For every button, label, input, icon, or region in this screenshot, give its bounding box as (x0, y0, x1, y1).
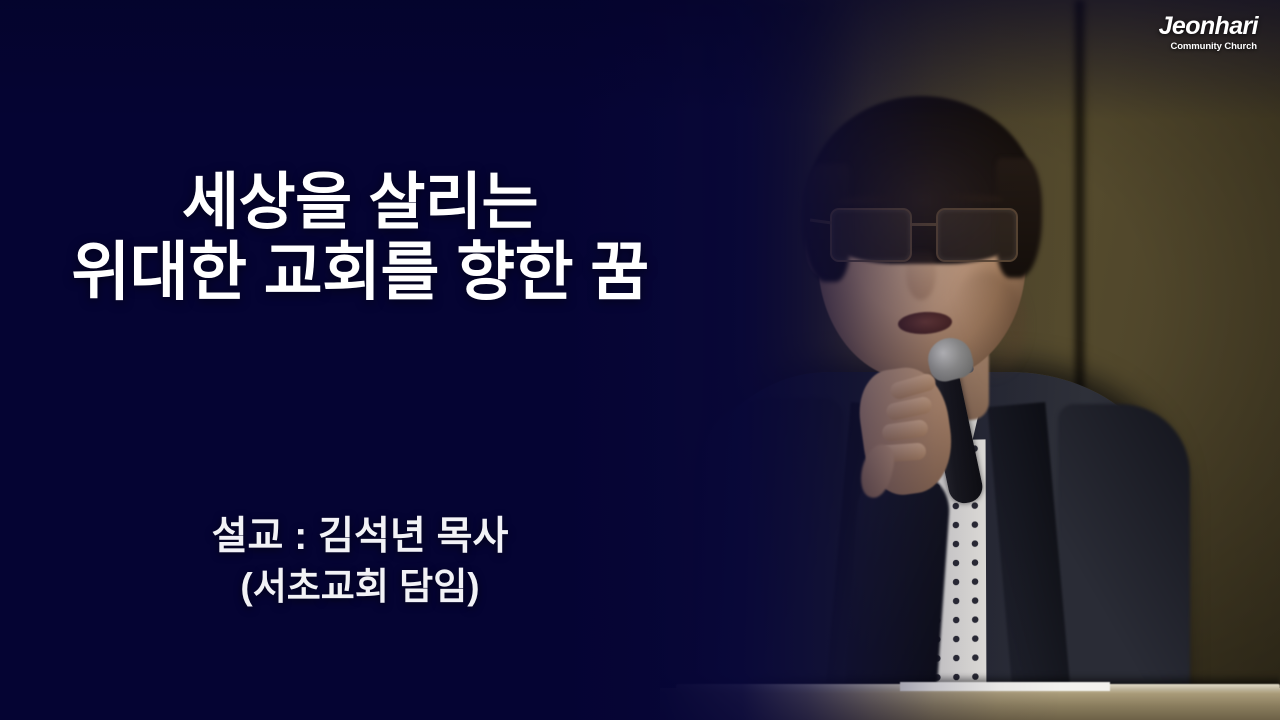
sermon-title: 세상을 살리는 위대한 교회를 향한 꿈 (0, 168, 720, 309)
sermon-title-line-2: 위대한 교회를 향한 꿈 (0, 237, 720, 309)
sermon-title-line-1: 세상을 살리는 (0, 168, 720, 237)
speaker-name-line: 설교 : 김석년 목사 (0, 512, 720, 563)
church-logo-subtitle: Community Church (1159, 42, 1257, 52)
sermon-title-slide: 세상을 살리는 위대한 교회를 향한 꿈 설교 : 김석년 목사 (서초교회 담… (0, 0, 1280, 720)
navy-gradient-overlay (0, 0, 1280, 720)
church-logo: Jeonhari Community Church (1159, 14, 1258, 52)
church-logo-wordmark: Jeonhari (1159, 14, 1258, 39)
speaker-credit: 설교 : 김석년 목사 (서초교회 담임) (0, 512, 720, 611)
speaker-affiliation-line: (서초교회 담임) (0, 563, 720, 611)
